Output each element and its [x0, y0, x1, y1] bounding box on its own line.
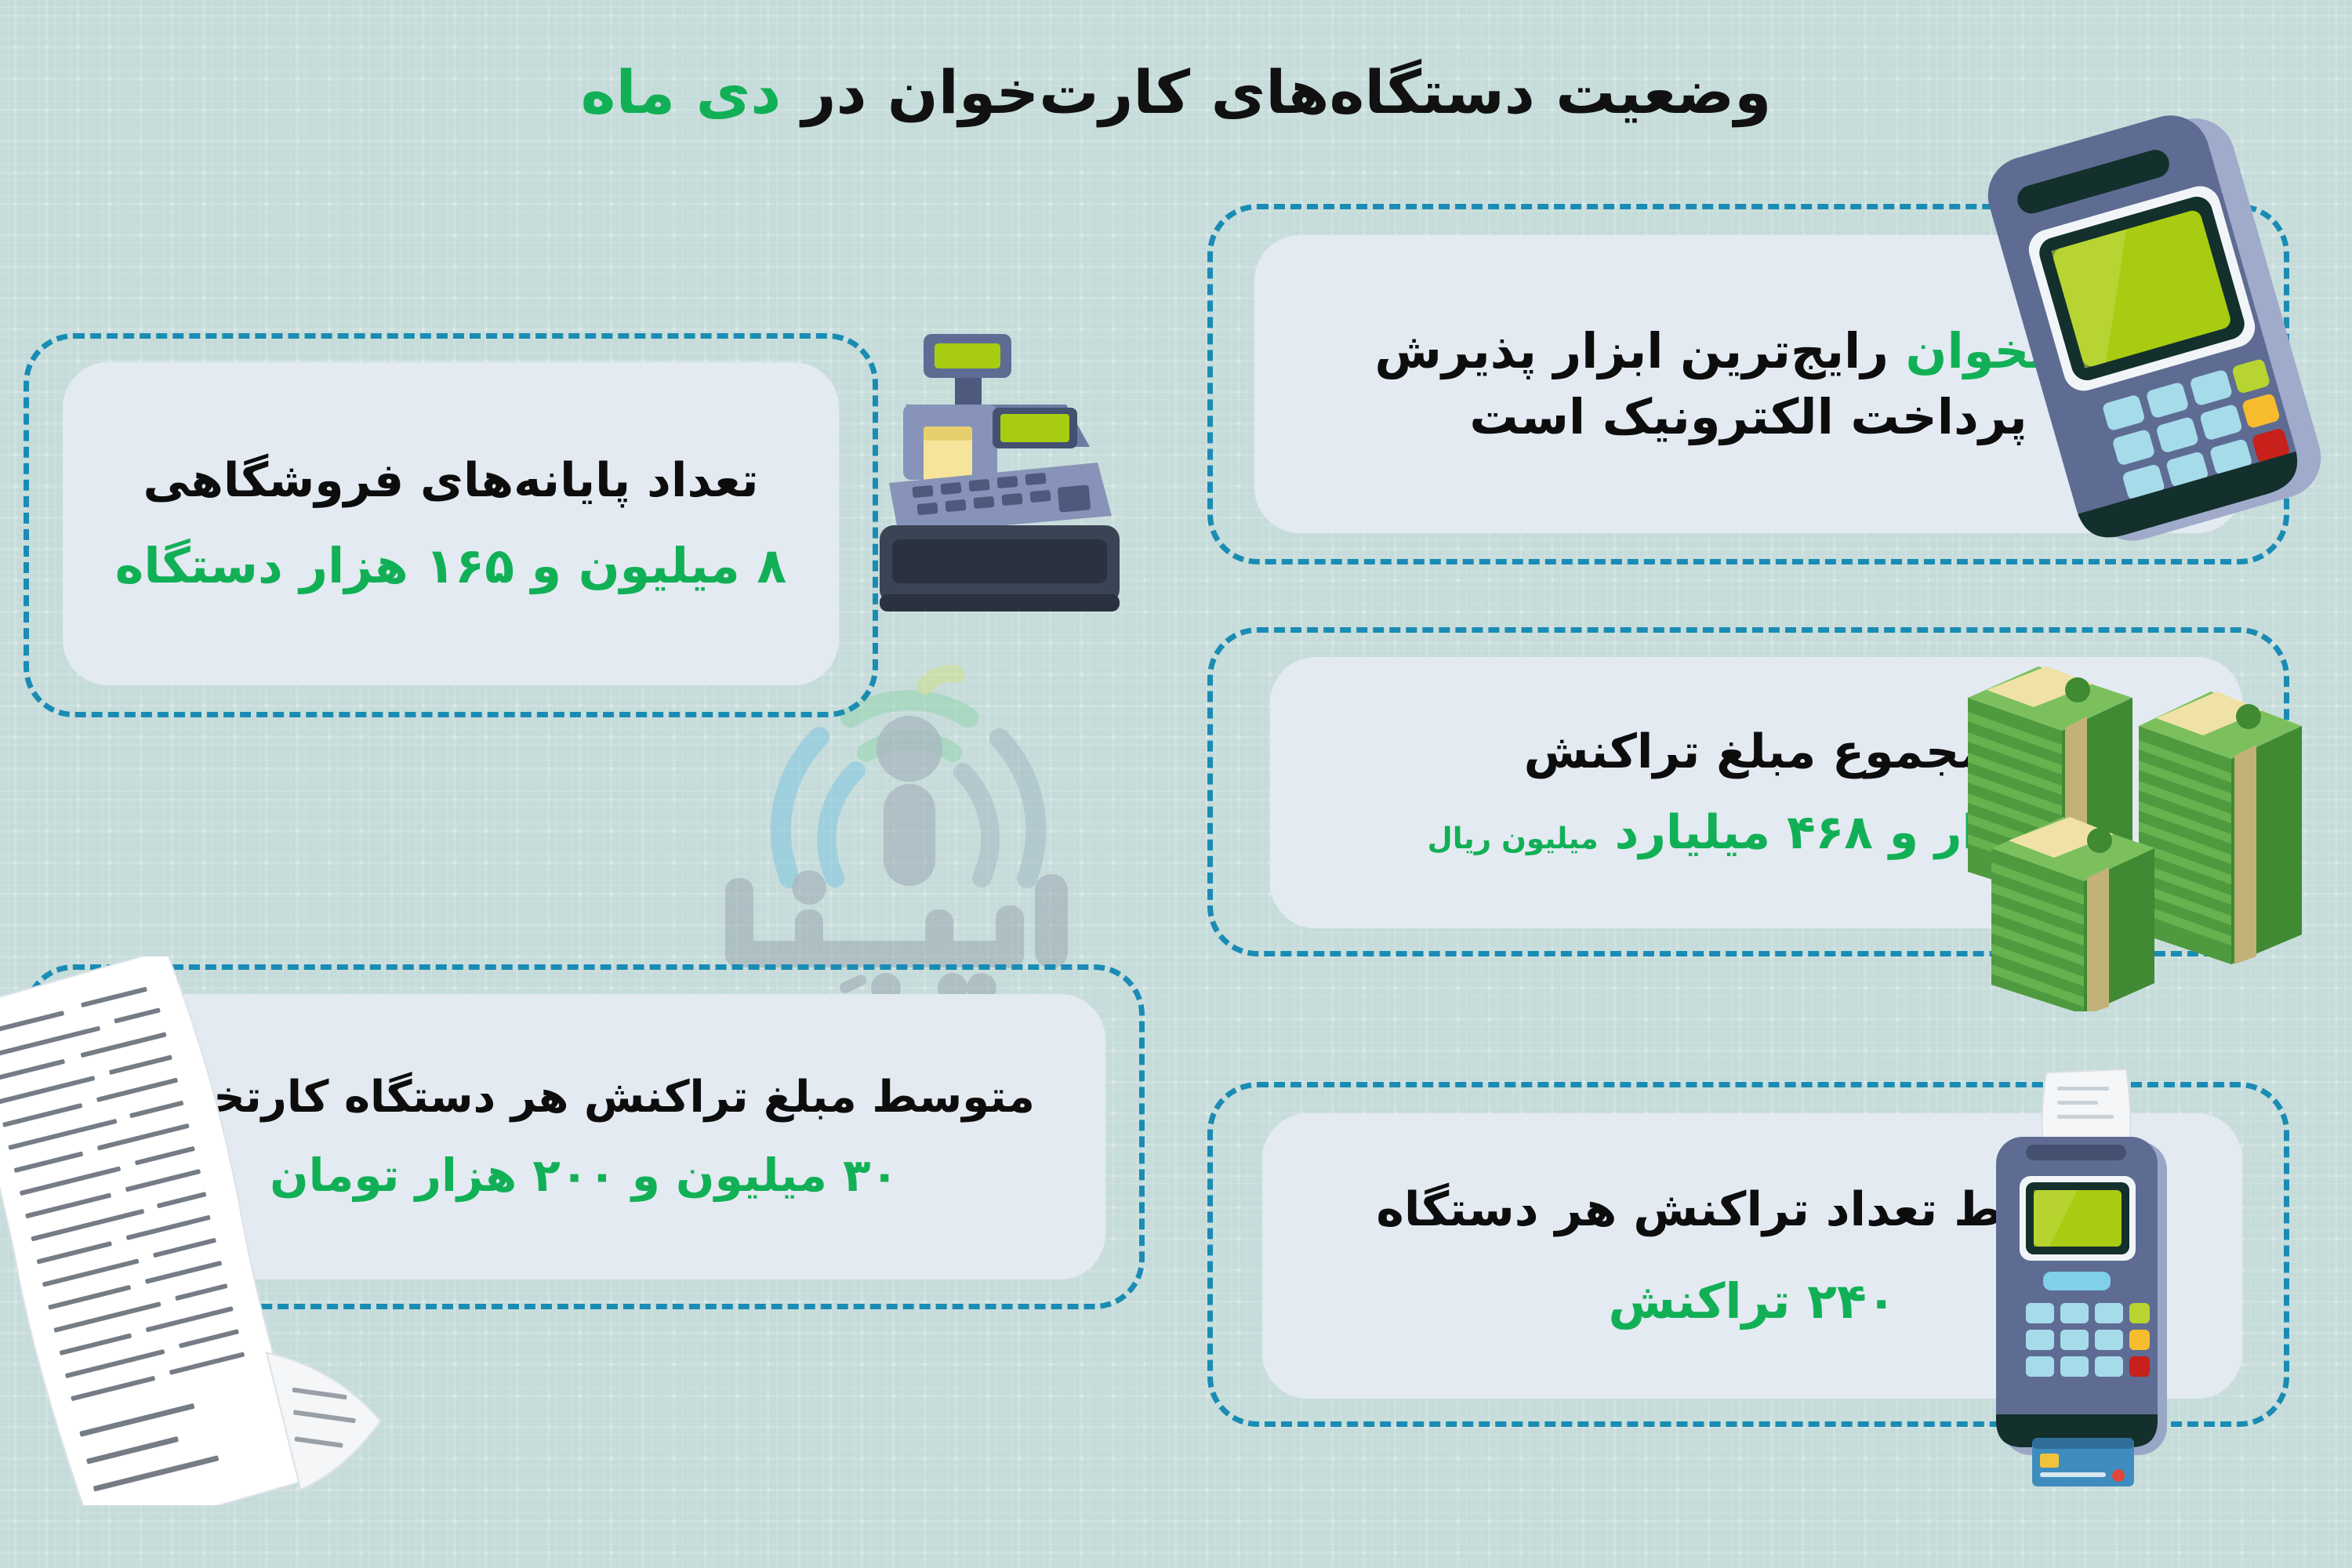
page-title-accent: دی ماه: [581, 57, 782, 127]
card-pos-intro-label-line2: پرداخت الکترونیک است: [1469, 384, 2027, 450]
pos-terminal-card-icon: [1944, 1066, 2227, 1490]
card-total-amount-label: مجموع مبلغ تراکنش: [1524, 720, 1989, 784]
page-title: وضعیت دستگاه‌های کارت‌خوان در دی ماه: [0, 57, 2352, 127]
card-total-amount-unit: میلیون ریال: [1428, 821, 1599, 855]
page-title-prefix: وضعیت دستگاه‌های کارت‌خوان در: [781, 57, 1771, 127]
receipt-icon: [0, 956, 408, 1505]
card-terminal-count-label: تعداد پایانه‌های فروشگاهی: [143, 449, 759, 513]
card-terminal-count-value: ۸ میلیون و ۱۶۵ هزار دستگاه: [115, 533, 787, 599]
card-terminal-count[interactable]: تعداد پایانه‌های فروشگاهی ۸ میلیون و ۱۶۵…: [63, 362, 839, 685]
cash-register-icon: [831, 329, 1160, 635]
card-avg-count-value: ۲۴۰ تراکنش: [1608, 1269, 1896, 1334]
pos-terminal-icon: [1976, 94, 2344, 580]
card-pos-intro-rest: رایج‌ترین ابزار پذیرش: [1374, 322, 1905, 379]
money-stacks-icon: [1968, 619, 2336, 1011]
